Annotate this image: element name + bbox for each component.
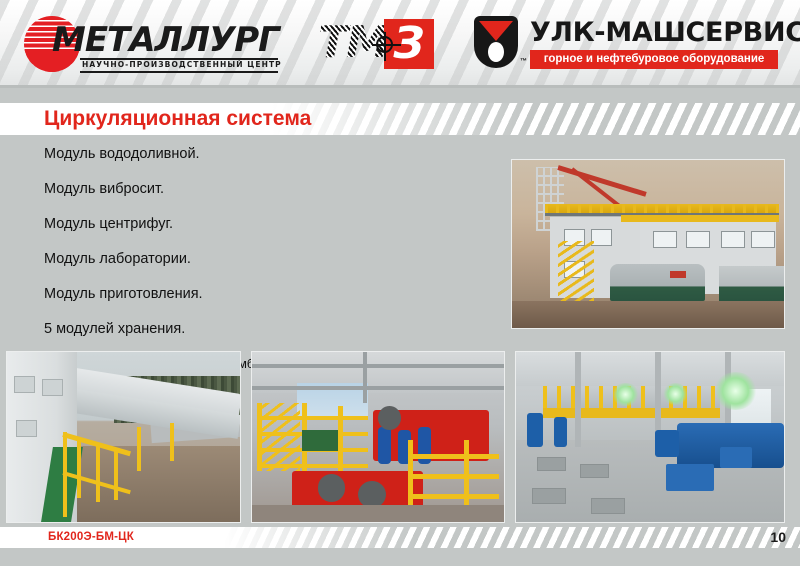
list-item: Модуль вододоливной. — [44, 145, 504, 163]
ulk-shield-icon — [474, 16, 518, 68]
model-code: БК200Э-БМ-ЦК — [48, 527, 134, 548]
slide: МЕТАЛЛУРГ НАУЧНО-ПРОИЗВОДСТВЕННЫЙ ЦЕНТР … — [0, 0, 800, 566]
photo-drilling-camp-modules — [511, 159, 785, 329]
page-title: Циркуляционная система — [44, 103, 311, 135]
ulk-tagline: горное и нефтебуровое оборудование — [530, 50, 778, 69]
list-item: Модуль лаборатории. — [44, 250, 504, 268]
logo-row: МЕТАЛЛУРГ НАУЧНО-ПРОИЗВОДСТВЕННЫЙ ЦЕНТР … — [0, 0, 800, 88]
ulk-tagline-banner: горное и нефтебуровое оборудование — [530, 50, 778, 69]
bullet-list: Модуль вододоливной. Модуль вибросит. Мо… — [44, 145, 504, 373]
page-number: 10 — [770, 527, 786, 548]
logo-tmz: ТМ З — [318, 18, 438, 70]
photo-industrial-hall — [515, 351, 785, 523]
metallurg-subtitle: НАУЧНО-ПРОИЗВОДСТВЕННЫЙ ЦЕНТР — [82, 60, 282, 69]
footer-band: БК200Э-БМ-ЦК 10 — [0, 527, 800, 548]
metallurg-rule-bottom — [80, 71, 278, 73]
metallurg-wordmark: МЕТАЛЛУРГ — [52, 20, 279, 60]
list-item: Модуль центрифуг. — [44, 215, 504, 233]
logo-metallurg: МЕТАЛЛУРГ НАУЧНО-ПРОИЗВОДСТВЕННЫЙ ЦЕНТР — [24, 14, 284, 74]
photo-red-pump-module — [251, 351, 505, 523]
title-band: Циркуляционная система — [0, 103, 800, 135]
crosshair-icon — [376, 36, 393, 53]
trademark-symbol: ™ — [520, 58, 527, 65]
footer-fill — [0, 548, 800, 566]
list-item: Модуль вибросит. — [44, 180, 504, 198]
list-item: 5 модулей хранения. — [44, 320, 504, 338]
list-item: Модуль приготовления. — [44, 285, 504, 303]
logo-ulk-mashservis: ™ УЛК-МАШСЕРВИС горное и нефтебуровое об… — [474, 14, 779, 74]
photo-conveyor-walkway — [6, 351, 241, 523]
ulk-wordmark: УЛК-МАШСЕРВИС — [530, 18, 800, 48]
header-banner: МЕТАЛЛУРГ НАУЧНО-ПРОИЗВОДСТВЕННЫЙ ЦЕНТР … — [0, 0, 800, 88]
